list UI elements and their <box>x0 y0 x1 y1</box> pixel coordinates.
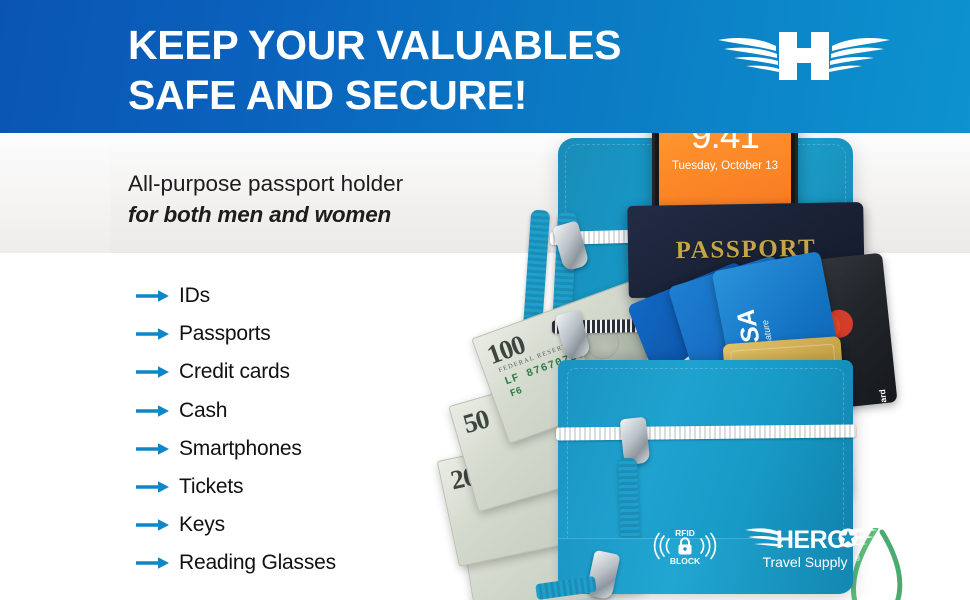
arrow-right-icon <box>136 555 170 571</box>
hero-travel-supply-winged-logo: HERO Travel Supply ® <box>745 520 877 574</box>
arrow-right-icon <box>136 326 170 342</box>
brand-name: HERO <box>776 526 846 554</box>
rfid-badge-top-text: RFID <box>675 528 695 538</box>
arrow-right-icon <box>136 479 170 495</box>
headline-line-1: KEEP YOUR VALUABLES <box>128 22 621 68</box>
subtitle-line-1: All-purpose passport holder <box>128 168 548 199</box>
arrow-right-icon <box>136 364 170 380</box>
list-item: Keys <box>136 506 466 544</box>
page-title: KEEP YOUR VALUABLES SAFE AND SECURE! <box>128 20 688 120</box>
list-item-label: Smartphones <box>179 437 302 461</box>
rfid-badge-bottom-text: BLOCK <box>670 556 701 566</box>
subtitle-line-2: for both men and women <box>128 199 548 230</box>
header-bar: KEEP YOUR VALUABLES SAFE AND SECURE! <box>0 0 970 133</box>
list-item: Credit cards <box>136 353 466 391</box>
list-item: Smartphones <box>136 430 466 468</box>
product-banner: KEEP YOUR VALUABLES SAFE AND SECURE! <box>0 0 970 600</box>
list-item-label: Passports <box>179 322 271 346</box>
list-item: Cash <box>136 392 466 430</box>
arrow-right-icon <box>136 288 170 304</box>
brand-tagline: Travel Supply <box>762 554 847 570</box>
list-item-label: Cash <box>179 399 227 423</box>
arrow-right-icon <box>136 403 170 419</box>
arrow-right-icon <box>136 517 170 533</box>
hero-winged-h-logo <box>716 24 892 86</box>
list-item: Passports <box>136 315 466 353</box>
brand-registered-mark: ® <box>855 555 861 563</box>
rfid-block-badge: RFID BLOCK <box>652 526 718 566</box>
list-item: IDs <box>136 277 466 315</box>
list-item: Reading Glasses <box>136 544 466 582</box>
phone-clock-date: Tuesday, October 13 <box>659 160 791 172</box>
feature-list: IDs Passports Credit cards Cash Smartpho <box>136 277 466 583</box>
list-item: Tickets <box>136 468 466 506</box>
list-item-label: Keys <box>179 513 225 537</box>
list-item-label: IDs <box>179 284 210 308</box>
list-item-label: Reading Glasses <box>179 551 336 575</box>
subtitle: All-purpose passport holder for both men… <box>128 168 548 230</box>
list-item-label: Credit cards <box>179 360 290 384</box>
banknote-serial-suffix: F6 <box>509 386 524 400</box>
headline-line-2: SAFE AND SECURE! <box>128 70 688 120</box>
list-item-label: Tickets <box>179 475 243 499</box>
card-brand-label: mastercard <box>877 389 892 413</box>
arrow-right-icon <box>136 441 170 457</box>
product-photo: 100 20 50 100 FEDERAL RESERVE LF 8767075… <box>440 60 970 600</box>
